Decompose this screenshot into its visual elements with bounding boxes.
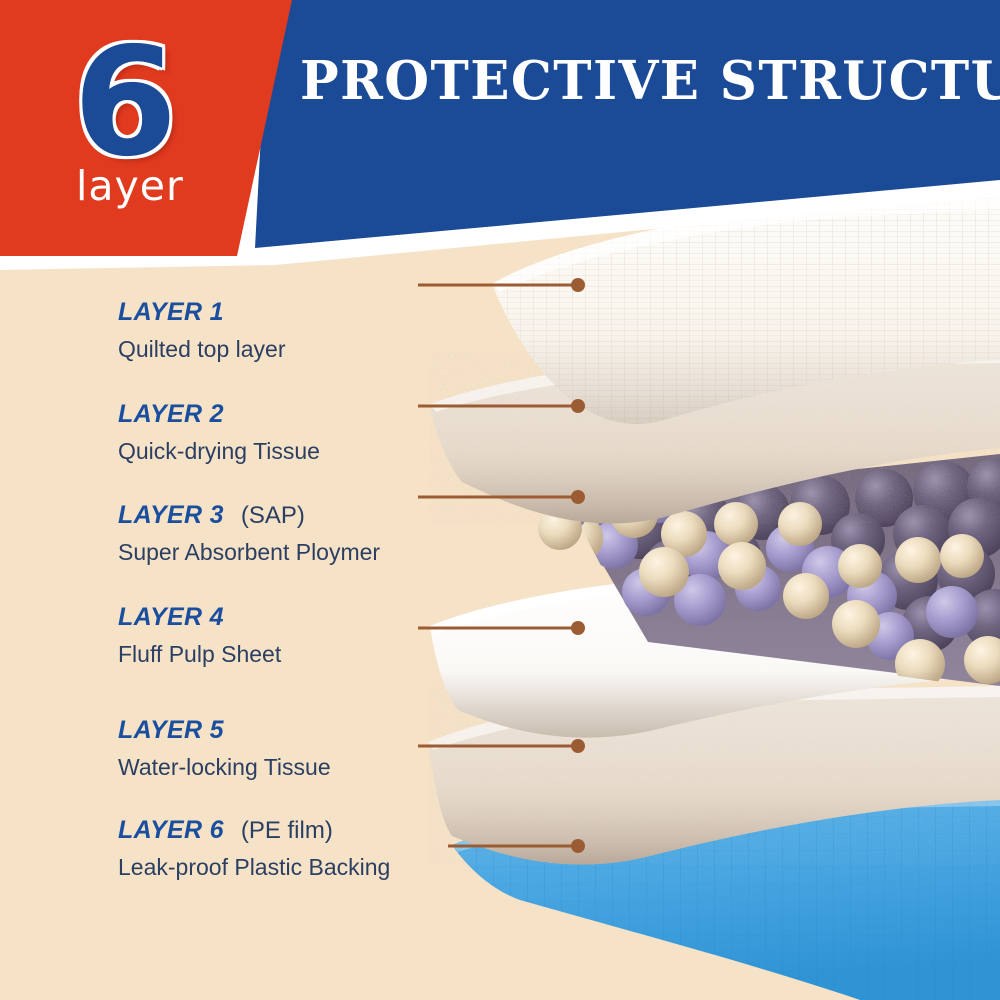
layer-number: LAYER 2 <box>118 400 224 428</box>
layer-label-list: LAYER 1Quilted top layerLAYER 2Quick-dry… <box>0 0 430 1000</box>
layer-label-heading: LAYER 3(SAP) <box>118 503 380 528</box>
layer-suffix: (SAP) <box>241 502 305 529</box>
layer-number: LAYER 6 <box>118 816 224 844</box>
layer-description: Super Absorbent Ploymer <box>118 539 380 565</box>
layer-number: LAYER 5 <box>118 716 224 744</box>
layer-label-heading: LAYER 1 <box>118 300 285 325</box>
leader-dot-2 <box>571 399 585 413</box>
layer-label-heading: LAYER 2 <box>118 402 320 427</box>
layer-number: LAYER 3 <box>118 501 224 529</box>
layer-number: LAYER 4 <box>118 603 224 631</box>
layer-label-2: LAYER 2Quick-drying Tissue <box>118 402 320 464</box>
layer-description: Leak-proof Plastic Backing <box>118 854 390 880</box>
layer-description: Quick-drying Tissue <box>118 438 320 464</box>
layer-label-heading: LAYER 6(PE film) <box>118 818 390 843</box>
layer-label-3: LAYER 3(SAP)Super Absorbent Ploymer <box>118 503 380 565</box>
layer-description: Water-locking Tissue <box>118 754 331 780</box>
leader-dot-5 <box>571 739 585 753</box>
layer-label-heading: LAYER 4 <box>118 605 281 630</box>
layer-label-1: LAYER 1Quilted top layer <box>118 300 285 362</box>
layer-label-4: LAYER 4Fluff Pulp Sheet <box>118 605 281 667</box>
leader-dot-6 <box>571 839 585 853</box>
infographic-canvas: 6 layer PROTECTIVE STRUCTURE LAYER 1Quil… <box>0 0 1000 1000</box>
layer-label-5: LAYER 5Water-locking Tissue <box>118 718 331 780</box>
leader-dot-1 <box>571 278 585 292</box>
layer-description: Fluff Pulp Sheet <box>118 641 281 667</box>
leader-dot-4 <box>571 621 585 635</box>
layer-label-6: LAYER 6(PE film)Leak-proof Plastic Backi… <box>118 818 390 880</box>
layer-label-heading: LAYER 5 <box>118 718 331 743</box>
layer-suffix: (PE film) <box>241 817 333 844</box>
layer-number: LAYER 1 <box>118 298 224 326</box>
layer-description: Quilted top layer <box>118 336 285 362</box>
leader-dot-3 <box>571 490 585 504</box>
